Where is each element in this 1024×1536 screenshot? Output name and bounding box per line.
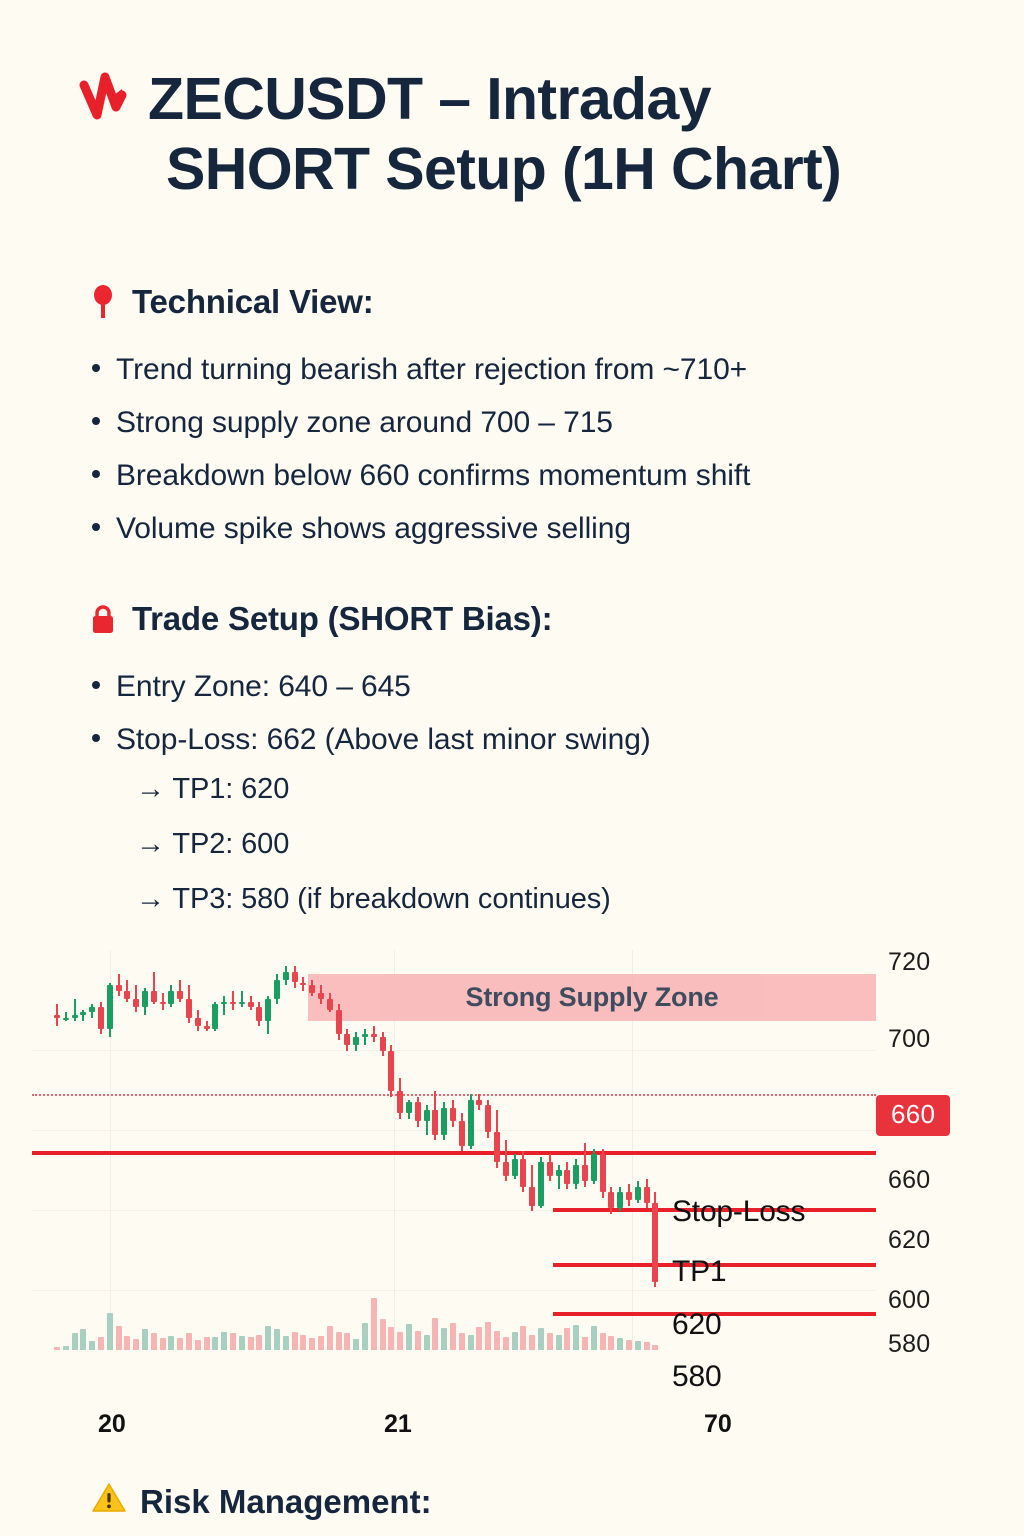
list-item-text: Strong supply zone around 700 – 715 bbox=[116, 408, 613, 438]
candle-body bbox=[512, 1159, 518, 1175]
volume-bar bbox=[652, 1345, 658, 1350]
candle-body bbox=[318, 993, 324, 998]
candle-body bbox=[221, 1002, 227, 1005]
volume-bar bbox=[512, 1332, 518, 1350]
x-tick-21: 21 bbox=[384, 1410, 412, 1439]
bullet-dot bbox=[92, 681, 100, 689]
candlestick bbox=[336, 950, 342, 1350]
bullet-dot bbox=[92, 523, 100, 531]
candlestick bbox=[239, 950, 245, 1350]
candle-body bbox=[626, 1192, 632, 1200]
candle-body bbox=[239, 1002, 245, 1005]
volume-bar bbox=[644, 1342, 650, 1350]
candlestick bbox=[256, 950, 262, 1350]
candle-body bbox=[547, 1162, 553, 1176]
candlestick bbox=[494, 950, 500, 1350]
volume-bar bbox=[494, 1331, 500, 1351]
y-tick-580: 580 bbox=[888, 1330, 930, 1359]
candle-body bbox=[151, 991, 157, 1002]
volume-bar bbox=[300, 1335, 306, 1350]
candlestick bbox=[397, 950, 403, 1350]
volume-bar bbox=[608, 1336, 614, 1350]
candlestick bbox=[573, 950, 579, 1350]
lock-icon bbox=[88, 600, 118, 638]
y-tick-700: 700 bbox=[888, 1025, 930, 1054]
y-tick-720: 720 bbox=[888, 948, 930, 977]
candlestick bbox=[300, 950, 306, 1350]
volume-bar bbox=[547, 1333, 553, 1350]
candle-body bbox=[72, 1015, 78, 1018]
volume-bar bbox=[54, 1347, 60, 1350]
candlestick bbox=[459, 950, 465, 1350]
volume-bar bbox=[221, 1332, 227, 1350]
infographic-page: ZECUSDT – Intraday SHORT Setup (1H Chart… bbox=[0, 0, 1024, 1536]
volume-bar bbox=[177, 1338, 183, 1350]
volume-bar bbox=[63, 1346, 69, 1350]
candle-body bbox=[248, 1002, 254, 1007]
volume-bar bbox=[160, 1338, 166, 1350]
target-item-tp1: → TP1: 620 bbox=[92, 773, 972, 806]
volume-bar bbox=[344, 1333, 350, 1350]
volume-bar bbox=[80, 1329, 86, 1350]
list-item: Volume spike shows aggressive selling bbox=[92, 514, 972, 544]
page-title: ZECUSDT – Intraday SHORT Setup (1H Chart… bbox=[78, 66, 978, 202]
candle-body bbox=[485, 1105, 491, 1132]
candle-body bbox=[98, 1007, 104, 1029]
candlestick bbox=[353, 950, 359, 1350]
candle-body bbox=[503, 1162, 509, 1176]
trade-setup-heading: Trade Setup (SHORT Bias): bbox=[88, 600, 552, 638]
candle-body bbox=[635, 1187, 641, 1201]
candlestick bbox=[617, 950, 623, 1350]
candlestick bbox=[441, 950, 447, 1350]
candlestick bbox=[283, 950, 289, 1350]
candlestick bbox=[644, 950, 650, 1350]
volume-bar bbox=[186, 1333, 192, 1350]
candle-body bbox=[274, 980, 280, 999]
x-tick-70: 70 bbox=[704, 1410, 732, 1439]
x-tick-20: 20 bbox=[98, 1410, 126, 1439]
volume-bar bbox=[89, 1341, 95, 1350]
volume-bar bbox=[212, 1337, 218, 1350]
candlestick bbox=[265, 950, 271, 1350]
annotation-580: 580 bbox=[672, 1360, 721, 1394]
volume-bar bbox=[274, 1329, 280, 1350]
candle-body bbox=[397, 1091, 403, 1113]
candlestick bbox=[142, 950, 148, 1350]
candle-body bbox=[406, 1102, 412, 1113]
technical-view-heading: Technical View: bbox=[88, 283, 374, 321]
volume-bar bbox=[336, 1332, 342, 1350]
candlestick bbox=[424, 950, 430, 1350]
y-tick-620: 620 bbox=[888, 1226, 930, 1255]
candle-body bbox=[327, 999, 333, 1010]
current-price-badge: 660 bbox=[876, 1095, 950, 1136]
volume-bar bbox=[388, 1327, 394, 1350]
candle-body bbox=[380, 1037, 386, 1051]
candle-body bbox=[582, 1165, 588, 1181]
candlestick bbox=[80, 950, 86, 1350]
candlestick bbox=[54, 950, 60, 1350]
list-item: Breakdown below 660 confirms momentum sh… bbox=[92, 461, 972, 491]
candlestick bbox=[195, 950, 201, 1350]
volume-bar bbox=[573, 1325, 579, 1350]
candlestick bbox=[485, 950, 491, 1350]
volume-bar bbox=[353, 1339, 359, 1350]
candle-body bbox=[556, 1170, 562, 1175]
volume-bar bbox=[406, 1324, 412, 1350]
volume-bar bbox=[415, 1331, 421, 1351]
candlestick bbox=[186, 950, 192, 1350]
list-item: Strong supply zone around 700 – 715 bbox=[92, 408, 972, 438]
candle-body bbox=[608, 1192, 614, 1208]
candlestick bbox=[371, 950, 377, 1350]
candle-body bbox=[54, 1015, 60, 1018]
candle-body bbox=[142, 991, 148, 1007]
candle-body bbox=[529, 1187, 535, 1206]
candle-wick bbox=[241, 991, 243, 1007]
volume-bar bbox=[116, 1326, 122, 1350]
candle-body bbox=[309, 985, 315, 993]
candle-body bbox=[362, 1034, 368, 1037]
volume-bar bbox=[133, 1339, 139, 1350]
volume-bar bbox=[318, 1336, 324, 1350]
candlestick bbox=[98, 950, 104, 1350]
candle-body bbox=[133, 999, 139, 1007]
target-item-tp3: → TP3: 580 (if breakdown continues) bbox=[92, 883, 972, 916]
candlestick bbox=[116, 950, 122, 1350]
technical-view-label: Technical View: bbox=[132, 283, 374, 321]
candlestick bbox=[556, 950, 562, 1350]
candlestick bbox=[520, 950, 526, 1350]
volume-bar bbox=[327, 1326, 333, 1350]
technical-view-list: Trend turning bearish after rejection fr… bbox=[92, 355, 972, 567]
volume-bar bbox=[635, 1341, 641, 1350]
candle-body bbox=[591, 1154, 597, 1181]
candlestick bbox=[107, 950, 113, 1350]
candle-body bbox=[617, 1192, 623, 1208]
candle-wick bbox=[232, 991, 234, 1010]
candle-body bbox=[265, 999, 271, 1021]
candle-body bbox=[80, 1012, 86, 1015]
volume-bar bbox=[591, 1326, 597, 1350]
title-line-1: ZECUSDT – Intraday bbox=[148, 66, 711, 132]
candlestick bbox=[380, 950, 386, 1350]
volume-bar bbox=[195, 1340, 201, 1350]
candlestick bbox=[89, 950, 95, 1350]
candlestick bbox=[63, 950, 69, 1350]
volume-bar bbox=[292, 1332, 298, 1350]
volume-bar bbox=[142, 1329, 148, 1350]
volume-bar bbox=[468, 1335, 474, 1350]
candlestick bbox=[652, 950, 658, 1350]
volume-bar bbox=[441, 1328, 447, 1350]
volume-bar bbox=[98, 1337, 104, 1350]
risk-management-label: Risk Management: bbox=[140, 1483, 432, 1521]
annotation-tp1: TP1 bbox=[672, 1255, 726, 1289]
list-item: Stop-Loss: 662 (Above last minor swing) bbox=[92, 725, 972, 755]
candlestick bbox=[406, 950, 412, 1350]
title-line-2: SHORT Setup (1H Chart) bbox=[166, 136, 841, 202]
candle-body bbox=[107, 985, 113, 1029]
volume-bar bbox=[371, 1298, 377, 1350]
candle-body bbox=[652, 1203, 658, 1282]
candlestick bbox=[626, 950, 632, 1350]
candle-body bbox=[353, 1037, 359, 1045]
candle-body bbox=[388, 1051, 394, 1092]
volume-bar bbox=[626, 1340, 632, 1350]
candlestick bbox=[388, 950, 394, 1350]
candlestick bbox=[503, 950, 509, 1350]
volume-bar bbox=[380, 1319, 386, 1350]
chart-plot-area: Strong Supply Zone bbox=[32, 950, 876, 1350]
candlestick bbox=[274, 950, 280, 1350]
volume-bar bbox=[503, 1337, 509, 1350]
candle-body bbox=[564, 1170, 570, 1184]
volume-bar bbox=[283, 1336, 289, 1350]
target-item-tp2: → TP2: 600 bbox=[92, 828, 972, 861]
candlestick bbox=[177, 950, 183, 1350]
candle-body bbox=[644, 1187, 650, 1203]
candle-body bbox=[573, 1165, 579, 1184]
volume-bar bbox=[424, 1335, 430, 1350]
candle-body bbox=[415, 1102, 421, 1121]
candle-body bbox=[63, 1018, 69, 1020]
candlestick bbox=[204, 950, 210, 1350]
candlestick bbox=[591, 950, 597, 1350]
candlestick bbox=[318, 950, 324, 1350]
candlestick bbox=[432, 950, 438, 1350]
candlestick bbox=[468, 950, 474, 1350]
candle-body bbox=[424, 1110, 430, 1121]
volume-bar bbox=[564, 1328, 570, 1350]
candlestick bbox=[600, 950, 606, 1350]
candlestick bbox=[230, 950, 236, 1350]
candle-body bbox=[116, 985, 122, 990]
annotation-620: 620 bbox=[672, 1308, 721, 1342]
volume-bar bbox=[168, 1336, 174, 1350]
candle-body bbox=[538, 1162, 544, 1206]
volume-bar bbox=[248, 1337, 254, 1350]
volume-bar bbox=[617, 1338, 623, 1350]
volume-bar bbox=[432, 1318, 438, 1351]
candlestick bbox=[582, 950, 588, 1350]
candle-body bbox=[186, 999, 192, 1018]
candle-body bbox=[256, 1007, 262, 1021]
candlestick bbox=[212, 950, 218, 1350]
candle-body bbox=[344, 1034, 350, 1045]
volume-bar bbox=[362, 1323, 368, 1350]
list-item-text: Volume spike shows aggressive selling bbox=[116, 514, 631, 544]
volume-bar bbox=[204, 1337, 210, 1350]
candlestick bbox=[124, 950, 130, 1350]
list-item: Entry Zone: 640 – 645 bbox=[92, 672, 972, 702]
volume-bar bbox=[72, 1333, 78, 1350]
volume-bar bbox=[450, 1323, 456, 1350]
candle-body bbox=[292, 972, 298, 983]
volume-bar bbox=[485, 1322, 491, 1350]
price-chart: Strong Supply Zone 720 700 660 660 620 6… bbox=[0, 940, 1024, 1460]
candlestick bbox=[309, 950, 315, 1350]
volume-bar bbox=[309, 1338, 315, 1350]
volume-bar bbox=[256, 1335, 262, 1350]
volume-bar bbox=[556, 1335, 562, 1350]
candlestick bbox=[635, 950, 641, 1350]
candle-body bbox=[212, 1004, 218, 1029]
volume-bar bbox=[151, 1333, 157, 1350]
candle-body bbox=[441, 1108, 447, 1135]
candlestick bbox=[221, 950, 227, 1350]
volume-bar bbox=[582, 1337, 588, 1350]
candlestick bbox=[538, 950, 544, 1350]
candlestick bbox=[450, 950, 456, 1350]
list-item-text: Stop-Loss: 662 (Above last minor swing) bbox=[116, 725, 651, 755]
candle-body bbox=[450, 1108, 456, 1122]
candle-body bbox=[283, 972, 289, 980]
bullet-dot bbox=[92, 417, 100, 425]
bullet-dot bbox=[92, 734, 100, 742]
candle-body bbox=[459, 1121, 465, 1146]
volume-bar bbox=[230, 1333, 236, 1350]
volume-bar bbox=[520, 1326, 526, 1350]
candle-body bbox=[124, 991, 130, 999]
candlestick bbox=[547, 950, 553, 1350]
candlestick bbox=[168, 950, 174, 1350]
candle-body bbox=[476, 1100, 482, 1105]
candle-wick bbox=[223, 996, 225, 1015]
list-item-text: Breakdown below 660 confirms momentum sh… bbox=[116, 461, 750, 491]
candlestick bbox=[344, 950, 350, 1350]
pin-icon bbox=[88, 283, 118, 321]
candle-body bbox=[432, 1110, 438, 1135]
bullet-dot bbox=[92, 364, 100, 372]
annotation-stop-loss: Stop-Loss bbox=[672, 1195, 805, 1229]
candlestick bbox=[512, 950, 518, 1350]
candlestick bbox=[133, 950, 139, 1350]
candlestick bbox=[476, 950, 482, 1350]
volume-bar bbox=[239, 1336, 245, 1350]
candle-body bbox=[336, 1010, 342, 1035]
y-tick-600: 600 bbox=[888, 1286, 930, 1315]
warning-icon bbox=[92, 1482, 126, 1521]
candle-wick bbox=[82, 1010, 84, 1021]
candle-body bbox=[520, 1159, 526, 1186]
candle-body bbox=[204, 1026, 210, 1029]
volume-bar bbox=[538, 1328, 544, 1350]
volume-bar bbox=[107, 1313, 113, 1350]
candle-body bbox=[230, 1002, 236, 1005]
candlestick bbox=[292, 950, 298, 1350]
candlestick bbox=[327, 950, 333, 1350]
candlestick bbox=[72, 950, 78, 1350]
candlestick bbox=[608, 950, 614, 1350]
volume-bar bbox=[459, 1333, 465, 1350]
candlestick bbox=[151, 950, 157, 1350]
candle-body bbox=[160, 1002, 166, 1005]
volume-bar bbox=[476, 1327, 482, 1350]
candlestick bbox=[415, 950, 421, 1350]
volume-bar bbox=[600, 1333, 606, 1350]
list-item-text: Trend turning bearish after rejection fr… bbox=[116, 355, 747, 385]
candle-body bbox=[300, 983, 306, 986]
volume-bar bbox=[529, 1335, 535, 1350]
candle-body bbox=[468, 1100, 474, 1146]
candle-body bbox=[195, 1018, 201, 1026]
trade-setup-label: Trade Setup (SHORT Bias): bbox=[132, 600, 552, 638]
down-trend-icon bbox=[78, 70, 134, 136]
volume-bar bbox=[124, 1336, 130, 1350]
volume-bar bbox=[265, 1326, 271, 1350]
candlestick bbox=[248, 950, 254, 1350]
candle-body bbox=[177, 991, 183, 999]
bullet-dot bbox=[92, 470, 100, 478]
candlestick bbox=[529, 950, 535, 1350]
volume-bar bbox=[397, 1332, 403, 1350]
y-tick-660: 660 bbox=[888, 1166, 930, 1195]
trade-setup-list: Entry Zone: 640 – 645 Stop-Loss: 662 (Ab… bbox=[92, 672, 972, 938]
candle-body bbox=[89, 1007, 95, 1012]
candlestick bbox=[160, 950, 166, 1350]
candlestick bbox=[564, 950, 570, 1350]
candle-body bbox=[168, 991, 174, 1005]
candle-body bbox=[371, 1034, 377, 1037]
candlestick bbox=[362, 950, 368, 1350]
list-item-text: Entry Zone: 640 – 645 bbox=[116, 672, 411, 702]
candle-body bbox=[494, 1132, 500, 1162]
risk-management-heading: Risk Management: bbox=[92, 1482, 432, 1521]
candle-body bbox=[600, 1154, 606, 1192]
candle-wick bbox=[558, 1165, 560, 1190]
list-item: Trend turning bearish after rejection fr… bbox=[92, 355, 972, 385]
